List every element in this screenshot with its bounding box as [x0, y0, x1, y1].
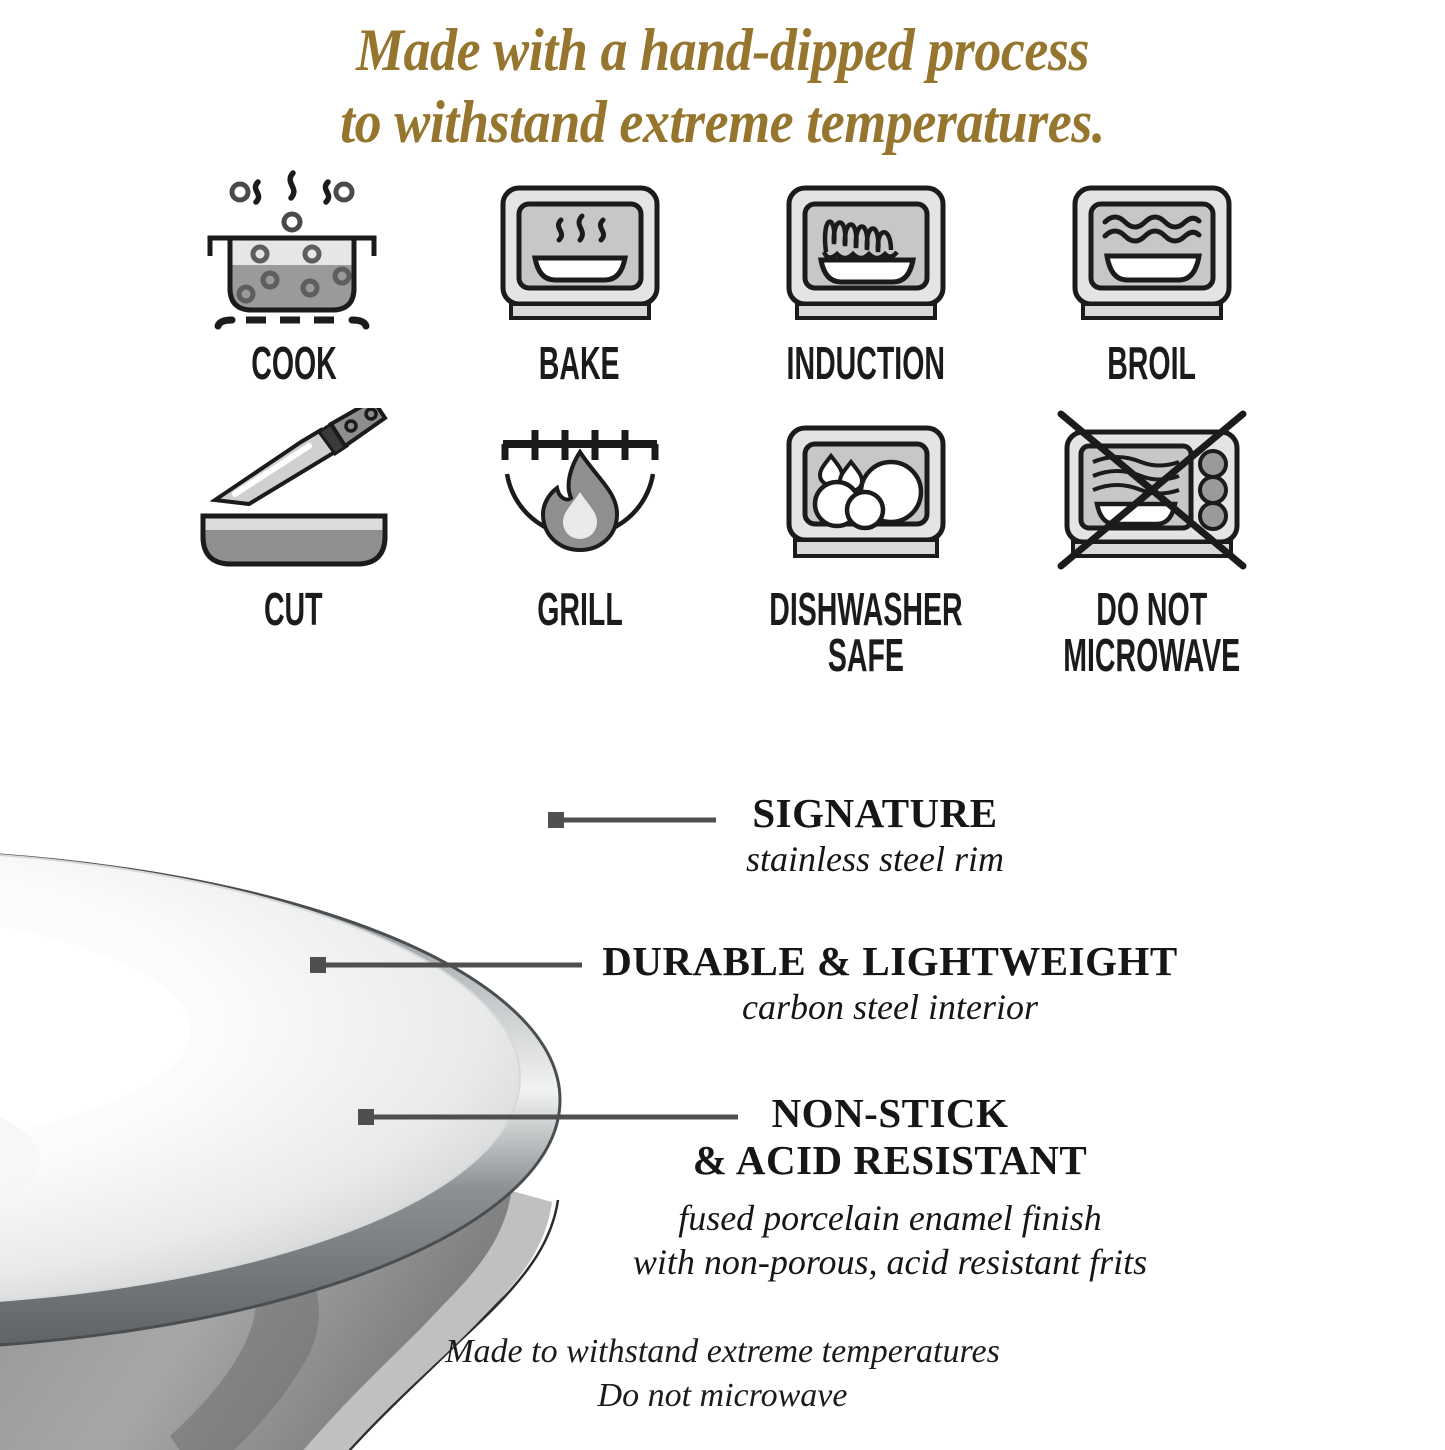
callout-signature: SIGNATURE stainless steel rim	[640, 790, 1110, 881]
icon-label-cook: COOK	[251, 340, 337, 386]
icon-cell-do-not-microwave: DO NOT MICROWAVE	[1009, 408, 1295, 678]
icon-cell-induction: INDUCTION	[723, 170, 1009, 386]
icon-cell-cook: COOK	[151, 170, 437, 386]
page-title: Made with a hand-dipped process to withs…	[72, 14, 1373, 158]
callout-signature-subtitle: stainless steel rim	[640, 837, 1110, 881]
icon-label-do-not-microwave: DO NOT MICROWAVE	[1063, 586, 1240, 678]
broil-icon	[1057, 170, 1247, 332]
callout-durable-subtitle: carbon steel interior	[520, 985, 1260, 1029]
cut-icon	[189, 408, 399, 578]
headline-line-1: Made with a hand-dipped process	[356, 17, 1089, 83]
icon-label-broil: BROIL	[1107, 340, 1196, 386]
callout-nonstick-subtitle-line-1: fused porcelain enamel finish	[470, 1196, 1310, 1240]
callout-nonstick-title-line-2: & ACID RESISTANT	[470, 1137, 1310, 1184]
callout-nonstick-title-line-1: NON-STICK	[470, 1090, 1310, 1137]
callout-nonstick: NON-STICK & ACID RESISTANT fused porcela…	[470, 1090, 1310, 1284]
callout-nonstick-subtitle-line-2: with non-porous, acid resistant frits	[470, 1240, 1310, 1284]
infographic-canvas: Made with a hand-dipped process to withs…	[0, 0, 1445, 1445]
bake-icon	[485, 170, 675, 332]
dishwasher-safe-icon	[771, 408, 961, 578]
footer-line-1: Made to withstand extreme temperatures	[0, 1330, 1445, 1374]
induction-icon	[771, 170, 961, 332]
icon-cell-broil: BROIL	[1009, 170, 1295, 386]
footer-note: Made to withstand extreme temperatures D…	[0, 1330, 1445, 1418]
callout-signature-title: SIGNATURE	[640, 790, 1110, 837]
headline-line-2: to withstand extreme temperatures.	[72, 86, 1373, 158]
callout-durable: DURABLE & LIGHTWEIGHT carbon steel inter…	[520, 938, 1260, 1029]
icon-label-dishwasher-safe: DISHWASHER SAFE	[769, 586, 962, 678]
icon-cell-bake: BAKE	[437, 170, 723, 386]
icon-cell-dishwasher-safe: DISHWASHER SAFE	[723, 408, 1009, 678]
icon-label-induction: INDUCTION	[786, 340, 944, 386]
grill-icon	[485, 408, 675, 578]
icon-row-1: COOK	[0, 170, 1445, 386]
cook-icon	[194, 170, 394, 332]
callout-durable-title: DURABLE & LIGHTWEIGHT	[520, 938, 1260, 985]
footer-line-2: Do not microwave	[0, 1374, 1445, 1418]
do-not-microwave-icon	[1047, 408, 1257, 578]
icon-label-bake: BAKE	[539, 340, 620, 386]
